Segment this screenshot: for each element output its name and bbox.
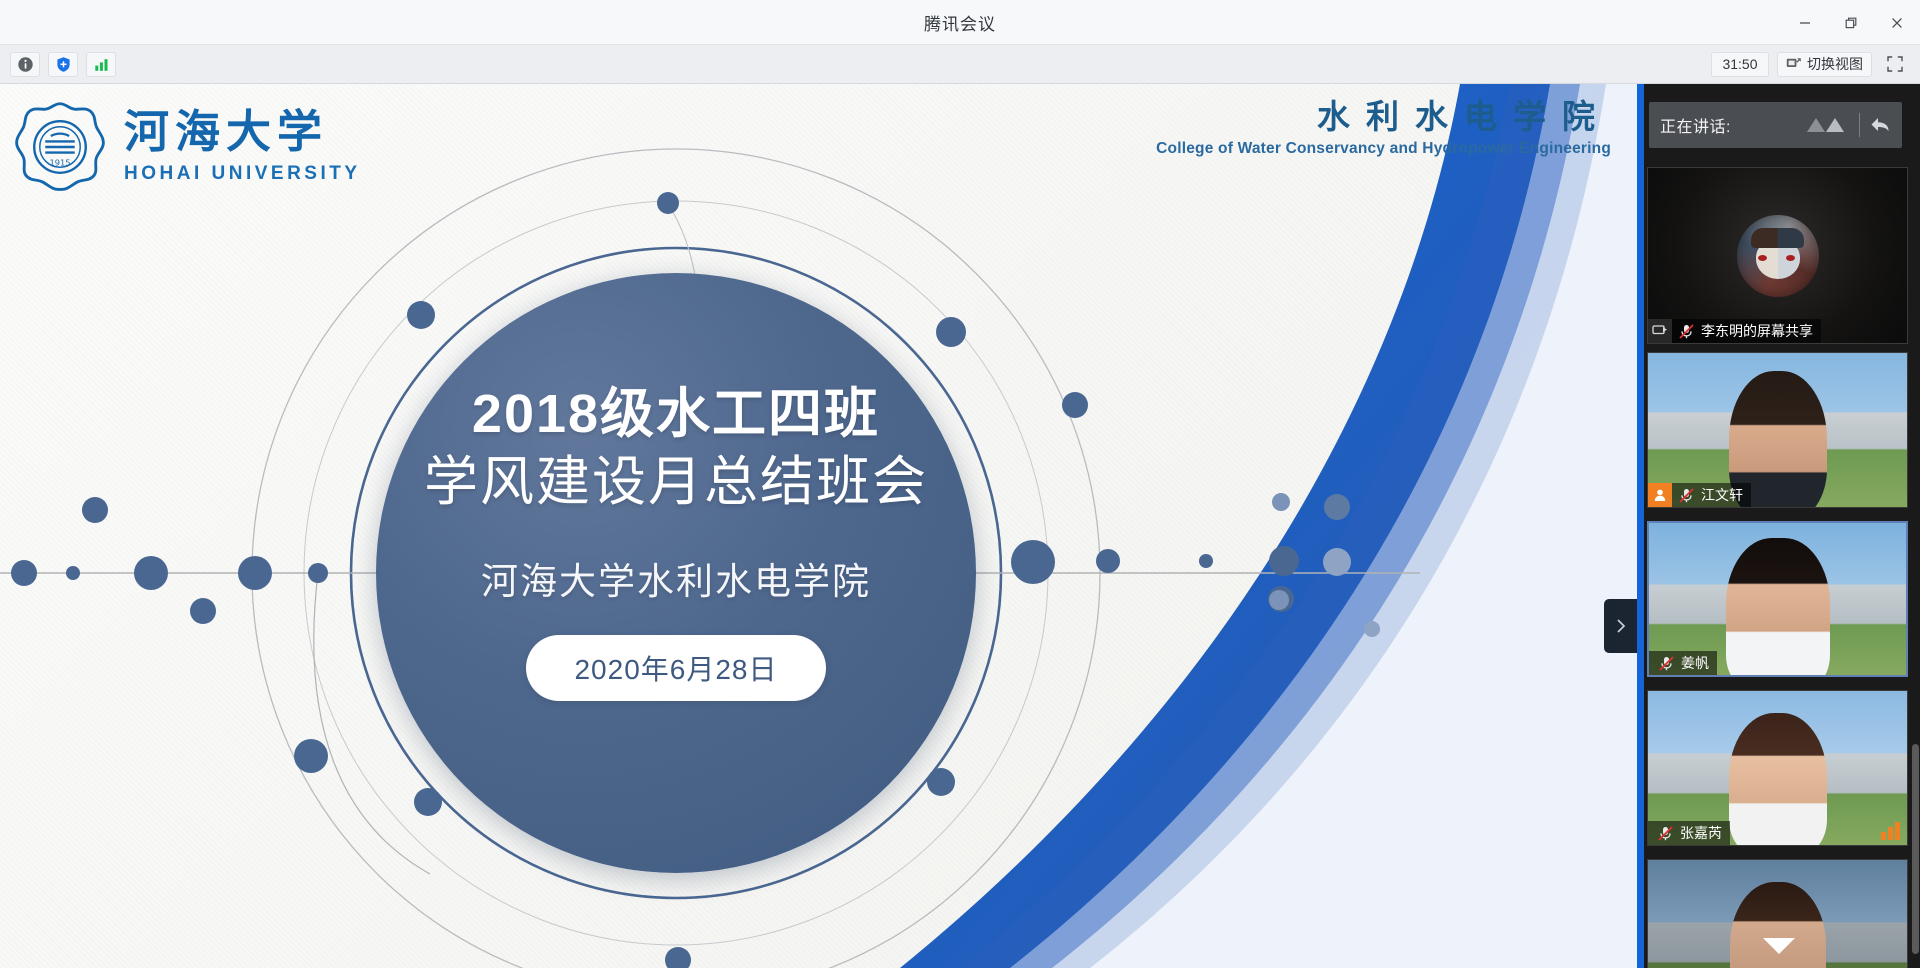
participant-name-chip: 张嘉芮 [1648, 821, 1730, 845]
person-silhouette [1726, 538, 1830, 677]
restore-icon [1844, 16, 1858, 30]
chevron-right-icon [1614, 616, 1628, 636]
scroll-down-triangle-icon[interactable] [1763, 938, 1795, 954]
speaking-right-group [1804, 113, 1891, 137]
fullscreen-button[interactable] [1880, 52, 1910, 77]
slide-title-line1: 2018级水工四班 [472, 383, 880, 447]
person-glyph [1653, 488, 1667, 502]
hohai-seal-icon: 1915 [14, 101, 106, 193]
restore-button[interactable] [1828, 0, 1874, 45]
hohai-university-brand: 1915 河海大学 HOHAI UNIVERSITY [14, 101, 361, 193]
tencent-meeting-logo-icon [1804, 114, 1850, 136]
participant-tile-0[interactable]: 李东明的屏幕共享 [1647, 167, 1908, 344]
mic-off-icon [1677, 322, 1696, 341]
info-icon [17, 56, 34, 73]
network-status-button[interactable] [86, 52, 116, 77]
participant-tile-3[interactable]: 张嘉芮 [1647, 690, 1908, 846]
now-speaking-label: 正在讲话: [1660, 113, 1731, 137]
switch-view-button[interactable]: 切换视图 [1777, 52, 1872, 77]
participant-tile-1[interactable]: 江文轩 [1647, 352, 1908, 508]
slide-hero-circle: 2018级水工四班 学风建设月总结班会 河海大学水利水电学院 2020年6月28… [376, 273, 976, 873]
screen-share-icon [1648, 319, 1672, 343]
participants-panel[interactable]: 正在讲话: [1637, 84, 1920, 968]
college-name-cn: 水利水电学院 [1156, 98, 1611, 136]
collapse-sidebar-button[interactable] [1604, 599, 1637, 653]
presentation-slide: 1915 河海大学 HOHAI UNIVERSITY 水利水电学院 Colleg… [0, 84, 1637, 968]
return-arrow-icon[interactable] [1869, 115, 1891, 135]
participant-name: 姜帆 [1681, 653, 1709, 673]
now-speaking-bar: 正在讲话: [1649, 102, 1902, 148]
shield-plus-icon [55, 56, 72, 73]
mic-off-glyph [1678, 487, 1695, 504]
participant-tile-2[interactable]: 姜帆 [1647, 521, 1908, 677]
app-title: 腾讯会议 [924, 10, 996, 35]
participant-name-chip: 姜帆 [1649, 651, 1717, 675]
avatar [1737, 215, 1819, 297]
minimize-button[interactable] [1782, 0, 1828, 45]
close-button[interactable] [1874, 0, 1920, 45]
toolbar-left-group [0, 52, 116, 77]
brand-name-cn: 河海大学 [124, 109, 361, 154]
brand-name-en: HOHAI UNIVERSITY [124, 163, 361, 185]
close-icon [1890, 16, 1904, 30]
meeting-info-button[interactable] [10, 52, 40, 77]
shared-screen-stage[interactable]: 1915 河海大学 HOHAI UNIVERSITY 水利水电学院 Colleg… [0, 84, 1637, 968]
slide-subtitle: 河海大学水利水电学院 [481, 551, 871, 605]
mic-off-glyph [1678, 323, 1695, 340]
participant-name: 江文轩 [1701, 485, 1743, 505]
panel-accent-strip [1637, 84, 1644, 968]
mic-off-glyph [1657, 825, 1674, 842]
speaking-divider [1859, 113, 1860, 137]
switch-view-icon [1786, 56, 1802, 72]
svg-text:1915: 1915 [49, 157, 70, 167]
meeting-toolbar: 31:50 切换视图 [0, 45, 1920, 84]
participant-name: 张嘉芮 [1680, 823, 1722, 843]
slide-title-line2: 学风建设月总结班会 [424, 447, 928, 517]
window-controls [1782, 0, 1920, 45]
audio-level-indicator [1881, 822, 1900, 840]
security-button[interactable] [48, 52, 78, 77]
slide-date: 2020年6月28日 [526, 635, 825, 701]
mic-off-icon [1657, 654, 1676, 673]
college-name-en: College of Water Conservancy and Hydropo… [1156, 140, 1611, 158]
mic-off-icon [1677, 486, 1696, 505]
toolbar-right-group: 31:50 切换视图 [1711, 52, 1920, 77]
mic-off-glyph [1658, 655, 1675, 672]
screen-share-glyph [1652, 324, 1668, 338]
college-brand: 水利水电学院 College of Water Conservancy and … [1156, 98, 1611, 158]
mic-off-icon [1656, 824, 1675, 843]
participant-name: 李东明的屏幕共享 [1701, 321, 1813, 341]
meeting-timer: 31:50 [1711, 52, 1769, 77]
person-icon [1648, 483, 1672, 507]
network-signal-icon [93, 56, 110, 73]
participant-name-chip: 江文轩 [1648, 483, 1751, 507]
window-titlebar: 腾讯会议 [0, 0, 1920, 45]
panel-scrollbar[interactable] [1912, 744, 1919, 954]
fullscreen-icon [1886, 55, 1904, 73]
switch-view-label: 切换视图 [1807, 54, 1863, 74]
minimize-icon [1798, 16, 1812, 30]
person-silhouette [1729, 713, 1827, 846]
participant-name-chip: 李东明的屏幕共享 [1648, 319, 1821, 343]
